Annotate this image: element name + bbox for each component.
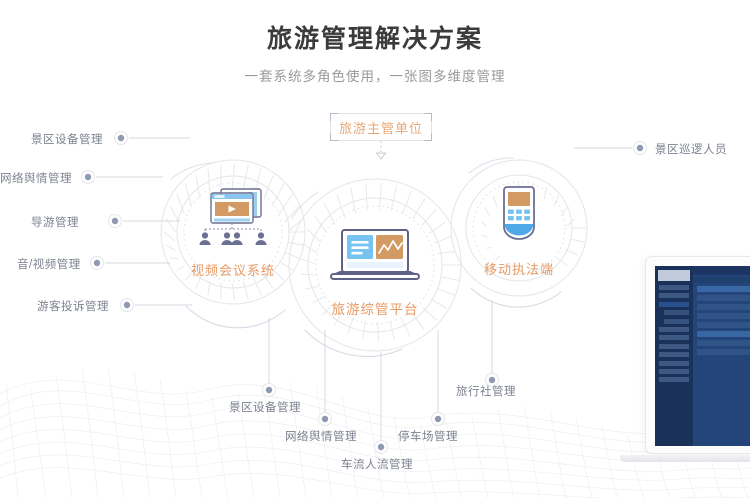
dashboard-sidebar	[655, 266, 693, 446]
page-title: 旅游管理解决方案	[0, 22, 750, 56]
bottom-label-traffic-flow-management[interactable]: 车流人流管理	[341, 456, 413, 472]
dashboard-row	[697, 322, 750, 328]
authority-badge[interactable]: 旅游主管单位	[330, 113, 432, 141]
dashboard-main-panel	[693, 266, 750, 446]
dashboard-screenshot	[655, 266, 750, 446]
dashboard-row	[697, 349, 750, 355]
left-label-scenic-device-management[interactable]: 景区设备管理	[31, 131, 103, 147]
dashboard-menu-item	[659, 361, 689, 366]
badge-corner-bottom-right	[424, 133, 432, 141]
right-connector-dots	[634, 142, 647, 155]
dashboard-row	[697, 313, 750, 319]
ring-platform	[289, 179, 461, 351]
dashboard-row	[697, 304, 750, 310]
left-label-tourist-complaint-management[interactable]: 游客投诉管理	[37, 298, 109, 314]
dashboard-topbar	[693, 266, 750, 275]
dashboard-tabbar	[693, 277, 750, 283]
dashboard-menu-subitem	[664, 310, 689, 315]
dashboard-menu-item	[659, 344, 689, 349]
badge-corner-top-right	[424, 113, 432, 121]
page-header: 旅游管理解决方案 一套系统多角色使用，一张图多维度管理	[0, 22, 750, 87]
dashboard-menu-item	[659, 352, 689, 357]
bottom-label-scenic-device-management[interactable]: 景区设备管理	[229, 399, 301, 415]
dashboard-row	[697, 340, 750, 346]
badge-corner-top-left	[330, 113, 338, 121]
dashboard-row	[697, 331, 750, 337]
dashboard-menu-item	[659, 285, 689, 290]
laptop-base	[620, 455, 750, 462]
solution-diagram-page: 旅游管理解决方案 一套系统多角色使用，一张图多维度管理 旅游主管单位	[0, 0, 750, 498]
badge-down-arrow-icon	[374, 140, 388, 162]
badge-corner-bottom-left	[330, 133, 338, 141]
dashboard-menu-item	[659, 377, 689, 382]
dashboard-logo	[658, 270, 690, 281]
ring-mobile-enforcement	[451, 160, 587, 296]
left-label-network-opinion-management[interactable]: 网络舆情管理	[0, 170, 72, 186]
ring-video-conference	[161, 160, 305, 304]
dashboard-row	[697, 286, 750, 292]
authority-badge-label: 旅游主管单位	[339, 118, 423, 137]
right-label-scenic-patrol-staff[interactable]: 景区巡逻人员	[655, 141, 727, 157]
left-label-audio-video-management[interactable]: 音/视频管理	[17, 256, 81, 272]
laptop-body	[645, 256, 750, 454]
authority-badge-wrapper: 旅游主管单位	[330, 113, 432, 141]
left-label-guide-management[interactable]: 导游管理	[31, 214, 79, 230]
dashboard-menu-item-active	[659, 302, 689, 307]
bottom-label-travel-agency-management[interactable]: 旅行社管理	[456, 383, 516, 399]
dashboard-menu-item	[659, 369, 689, 374]
dashboard-menu-item	[659, 327, 689, 332]
bottom-label-parking-management[interactable]: 停车场管理	[398, 428, 458, 444]
page-subtitle: 一套系统多角色使用，一张图多维度管理	[0, 67, 750, 87]
dashboard-row	[697, 295, 750, 301]
bottom-label-network-opinion-management[interactable]: 网络舆情管理	[285, 428, 357, 444]
laptop-mockup	[645, 256, 750, 454]
bottom-connectors	[269, 300, 492, 440]
dashboard-menu-item	[659, 293, 689, 298]
dashboard-menu-item	[659, 335, 689, 340]
dashboard-menu-subitem	[664, 319, 689, 324]
